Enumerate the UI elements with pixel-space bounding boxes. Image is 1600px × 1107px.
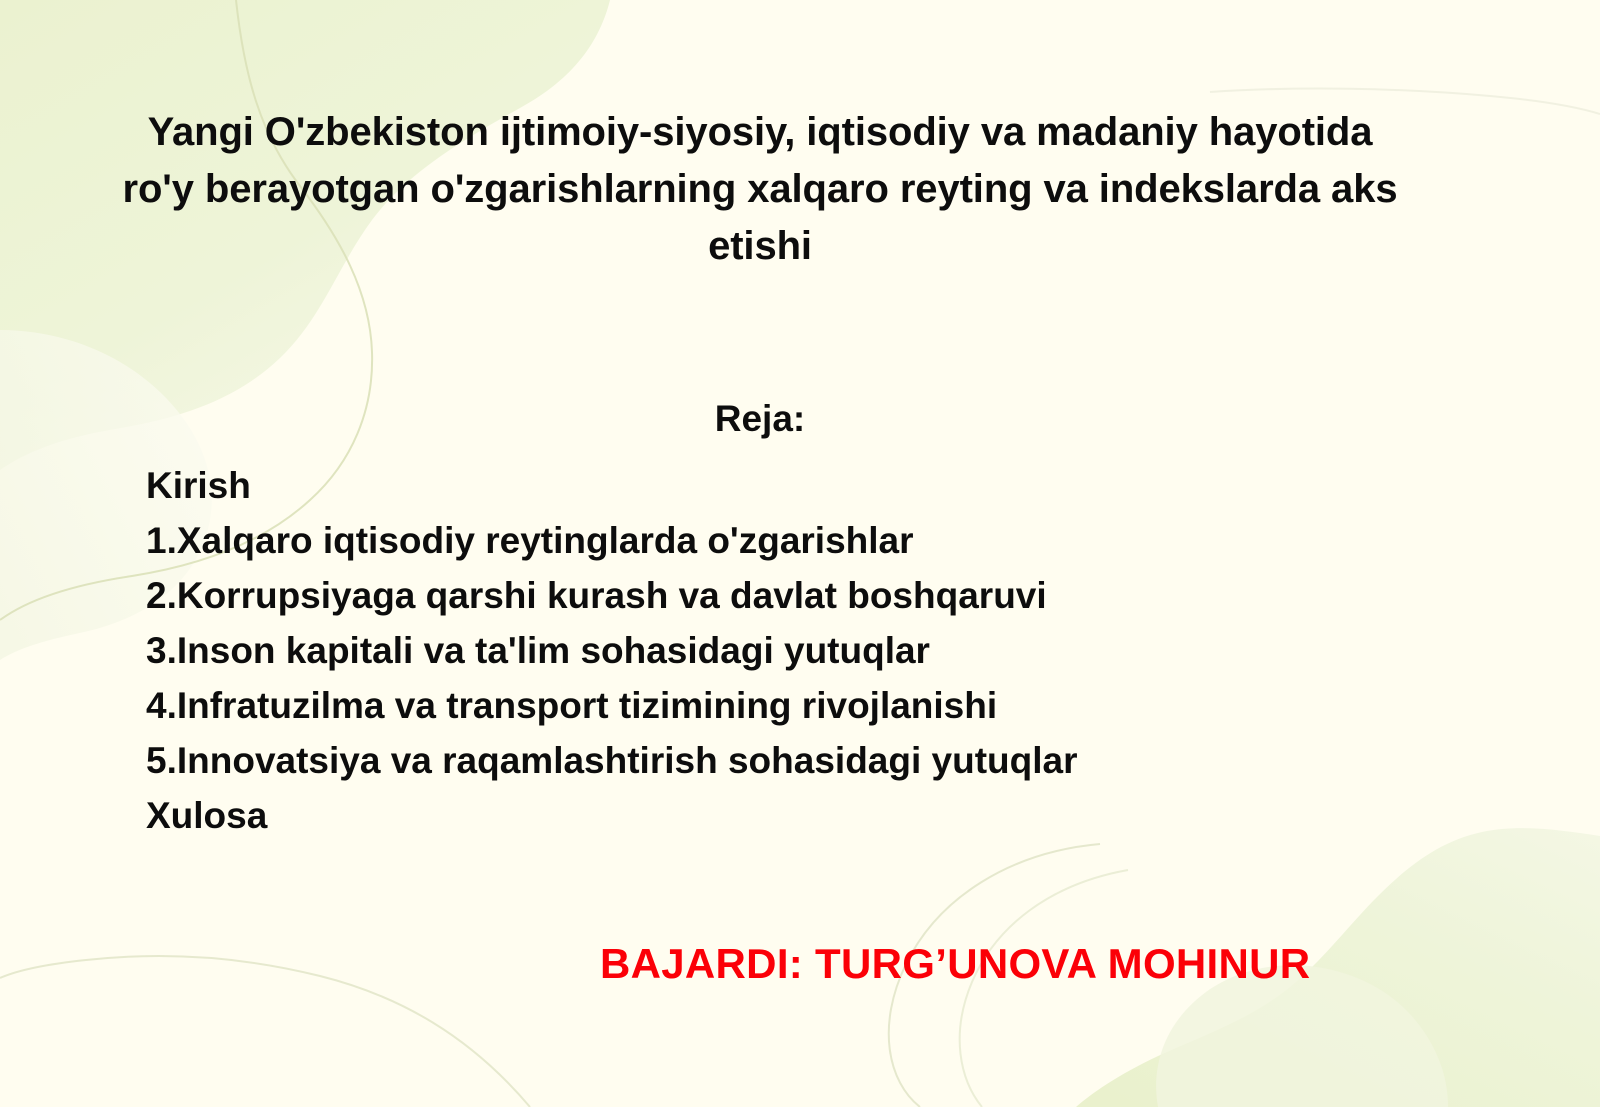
list-item: 3.Inson kapitali va ta'lim sohasidagi yu… xyxy=(146,623,1496,678)
presentation-slide: Yangi O'zbekiston ijtimoiy-siyosiy, iqti… xyxy=(0,0,1600,1107)
author-credit: BAJARDI: TURG’UNOVA MOHINUR xyxy=(600,940,1310,988)
list-item: Xulosa xyxy=(146,788,1496,843)
list-item: 4.Infratuzilma va transport tizimining r… xyxy=(146,678,1496,733)
plan-heading: Reja: xyxy=(110,398,1410,440)
list-item: 2.Korrupsiyaga qarshi kurash va davlat b… xyxy=(146,568,1496,623)
plan-list: Kirish 1.Xalqaro iqtisodiy reytinglarda … xyxy=(146,458,1496,843)
list-item: 5.Innovatsiya va raqamlashtirish sohasid… xyxy=(146,733,1496,788)
list-item: Kirish xyxy=(146,458,1496,513)
page-title: Yangi O'zbekiston ijtimoiy-siyosiy, iqti… xyxy=(110,104,1410,274)
slide-content: Yangi O'zbekiston ijtimoiy-siyosiy, iqti… xyxy=(0,0,1600,1107)
list-item: 1.Xalqaro iqtisodiy reytinglarda o'zgari… xyxy=(146,513,1496,568)
